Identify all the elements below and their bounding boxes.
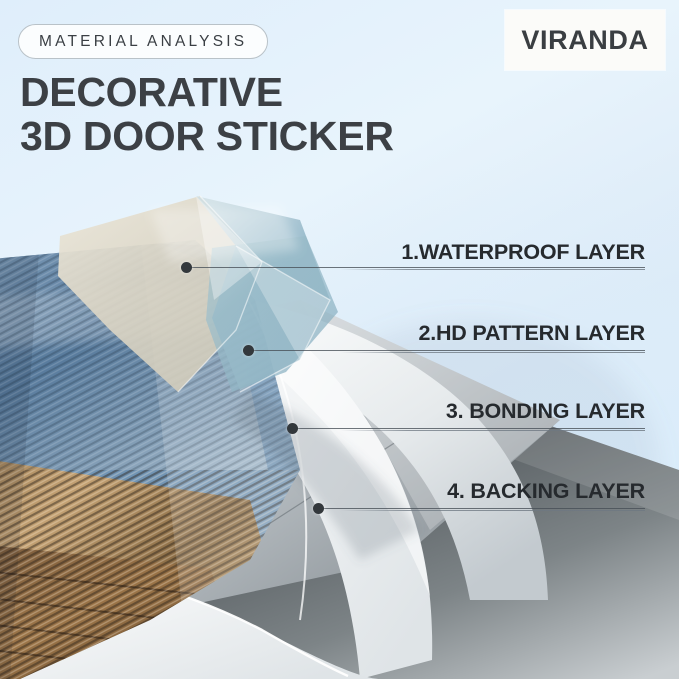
layer-dot-3 (287, 423, 298, 434)
brand-logo: VIRANDA (505, 10, 665, 70)
layer-label-bonding: 3. BONDING LAYER (446, 399, 645, 424)
layer-rule-2 (340, 352, 645, 353)
layer-rule-1 (340, 269, 645, 270)
layer-label-backing: 4. BACKING LAYER (447, 479, 645, 504)
layer-label-text: 1.WATERPROOF LAYER (401, 240, 645, 265)
leader-line-2 (252, 350, 645, 351)
layer-rule-3 (340, 430, 645, 431)
layer-dot-1 (181, 262, 192, 273)
layer-label-hd-pattern: 2.HD PATTERN LAYER (418, 321, 645, 346)
leader-line-4 (322, 508, 645, 509)
layer-label-text: 2.HD PATTERN LAYER (418, 321, 645, 346)
layer-dot-4 (313, 503, 324, 514)
brand-name: VIRANDA (521, 25, 648, 56)
layer-label-text: 4. BACKING LAYER (447, 479, 645, 504)
eyebrow-text: MATERIAL ANALYSIS (39, 33, 247, 51)
eyebrow-badge: MATERIAL ANALYSIS (18, 24, 268, 59)
layer-rule-4 (340, 510, 645, 511)
page-title: DECORATIVE 3D DOOR STICKER (20, 70, 394, 159)
title-line-2: 3D DOOR STICKER (20, 114, 394, 158)
layer-dot-2 (243, 345, 254, 356)
title-line-1: DECORATIVE (20, 70, 394, 114)
layer-label-text: 3. BONDING LAYER (446, 399, 645, 424)
layer-label-waterproof: 1.WATERPROOF LAYER (401, 240, 645, 265)
leader-line-1 (190, 267, 645, 268)
poster-canvas: 1.WATERPROOF LAYER 2.HD PATTERN LAYER 3.… (0, 0, 679, 679)
leader-line-3 (296, 428, 645, 429)
